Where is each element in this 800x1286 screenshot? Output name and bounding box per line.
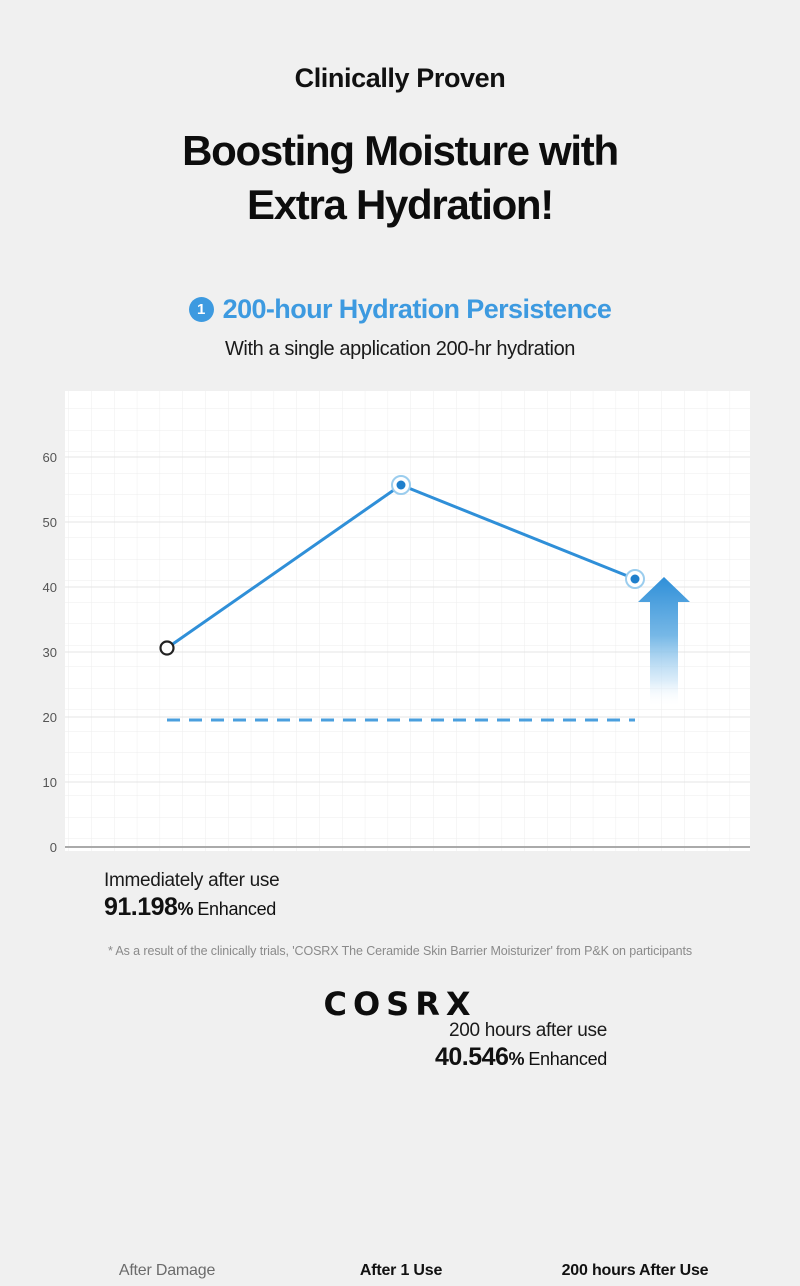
data-point-after-1-use[interactable] xyxy=(392,476,410,494)
annotation-2-value-line: 40.546% Enhanced xyxy=(435,1043,607,1072)
page-header: Clinically Proven Boosting Moisture with… xyxy=(0,0,800,232)
annotation-1-caption: Immediately after use xyxy=(104,869,279,893)
annotation-2-value: 40.546 xyxy=(435,1043,508,1071)
y-tick-10: 10 xyxy=(43,775,57,790)
y-axis-labels: 0 10 20 30 40 50 60 xyxy=(43,450,57,855)
y-tick-20: 20 xyxy=(43,710,57,725)
headline-line-1: Boosting Moisture with xyxy=(0,124,800,178)
eyebrow-text: Clinically Proven xyxy=(0,62,800,94)
hydration-chart: 0 10 20 30 40 50 60 xyxy=(0,387,800,857)
data-point-after-damage[interactable] xyxy=(161,641,174,654)
x-label-after-damage: After Damage xyxy=(119,1262,215,1280)
annotation-immediately-after-use: Immediately after use 91.198% Enhanced xyxy=(104,869,279,922)
annotation-2-percent: % xyxy=(508,1049,524,1069)
section-title: 200-hour Hydration Persistence xyxy=(223,294,612,325)
annotation-1-value-line: 91.198% Enhanced xyxy=(104,893,279,922)
headline-line-2: Extra Hydration! xyxy=(0,178,800,232)
y-tick-30: 30 xyxy=(43,645,57,660)
x-label-after-1-use: After 1 Use xyxy=(360,1262,442,1280)
annotation-1-suffix: Enhanced xyxy=(197,899,276,919)
number-badge-icon: 1 xyxy=(189,297,214,322)
annotation-2-suffix: Enhanced xyxy=(528,1049,607,1069)
footnote: * As a result of the clinically trials, … xyxy=(0,944,800,958)
y-tick-40: 40 xyxy=(43,580,57,595)
section-heading: 1 200-hour Hydration Persistence xyxy=(0,294,800,325)
x-axis-labels: After Damage After 1 Use 200 hours After… xyxy=(0,1262,800,1286)
x-label-200-hours-after-use: 200 hours After Use xyxy=(562,1262,709,1280)
data-point-200-hours-after-use[interactable] xyxy=(626,570,644,588)
chart-canvas: 0 10 20 30 40 50 60 xyxy=(0,387,800,857)
y-tick-0: 0 xyxy=(50,840,57,855)
annotation-1-percent: % xyxy=(177,899,193,919)
page-title: Boosting Moisture with Extra Hydration! xyxy=(0,124,800,232)
annotation-200-hours-after-use: 200 hours after use 40.546% Enhanced xyxy=(441,1019,607,1072)
annotation-1-value: 91.198 xyxy=(104,893,177,921)
y-tick-60: 60 xyxy=(43,450,57,465)
brand-logo: COSRX xyxy=(0,985,800,1023)
section-subtitle: With a single application 200-hr hydrati… xyxy=(0,338,800,361)
y-tick-50: 50 xyxy=(43,515,57,530)
